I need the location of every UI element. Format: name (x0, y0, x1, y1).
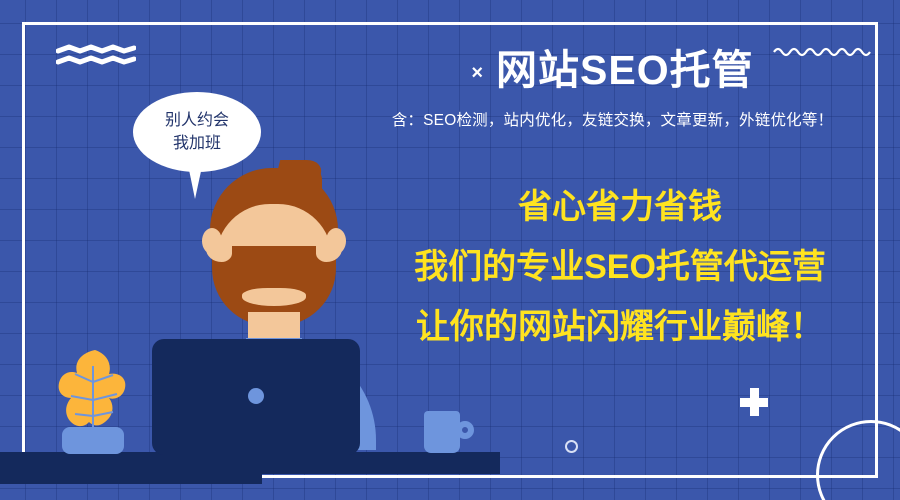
desk-surface (0, 452, 500, 474)
character-hair-tuft-2 (300, 166, 322, 192)
seo-hosting-poster: 别人约会 我加班 ×网站SEO托管 含：SEO检测，站内优化，友链交换，文章更新… (0, 0, 900, 500)
coffee-mug (424, 411, 460, 453)
laptop-logo-icon (248, 388, 264, 404)
character-beard-notch-left (206, 240, 232, 262)
wave-thick-icon (56, 44, 136, 68)
page-title: ×网站SEO托管 (340, 44, 885, 99)
circle-outline-icon (816, 420, 900, 500)
character-beard-notch-right (316, 240, 342, 262)
pitch-block: 省心省力省钱 我们的专业SEO托管代运营 让你的网站闪耀行业巅峰！ (355, 190, 885, 344)
plant-pot (62, 427, 124, 454)
character-mouth (242, 288, 306, 306)
speech-bubble-line-1: 别人约会 (165, 109, 229, 132)
speech-bubble: 别人约会 我加班 (133, 92, 261, 172)
title-text: 网站SEO托管 (496, 47, 754, 93)
subtitle: 含：SEO检测，站内优化，友链交换，文章更新，外链优化等！ (340, 108, 885, 130)
pitch-line-3: 让你的网站闪耀行业巅峰！ (355, 310, 885, 344)
headline-block: ×网站SEO托管 含：SEO检测，站内优化，友链交换，文章更新，外链优化等！ (340, 44, 885, 130)
small-circle-icon (565, 440, 578, 453)
pitch-line-2: 我们的专业SEO托管代运营 (355, 250, 885, 284)
pitch-line-1: 省心省力省钱 (355, 190, 885, 224)
plus-icon (740, 388, 768, 416)
speech-bubble-line-2: 我加班 (173, 132, 221, 155)
title-cross-icon: × (471, 62, 484, 84)
